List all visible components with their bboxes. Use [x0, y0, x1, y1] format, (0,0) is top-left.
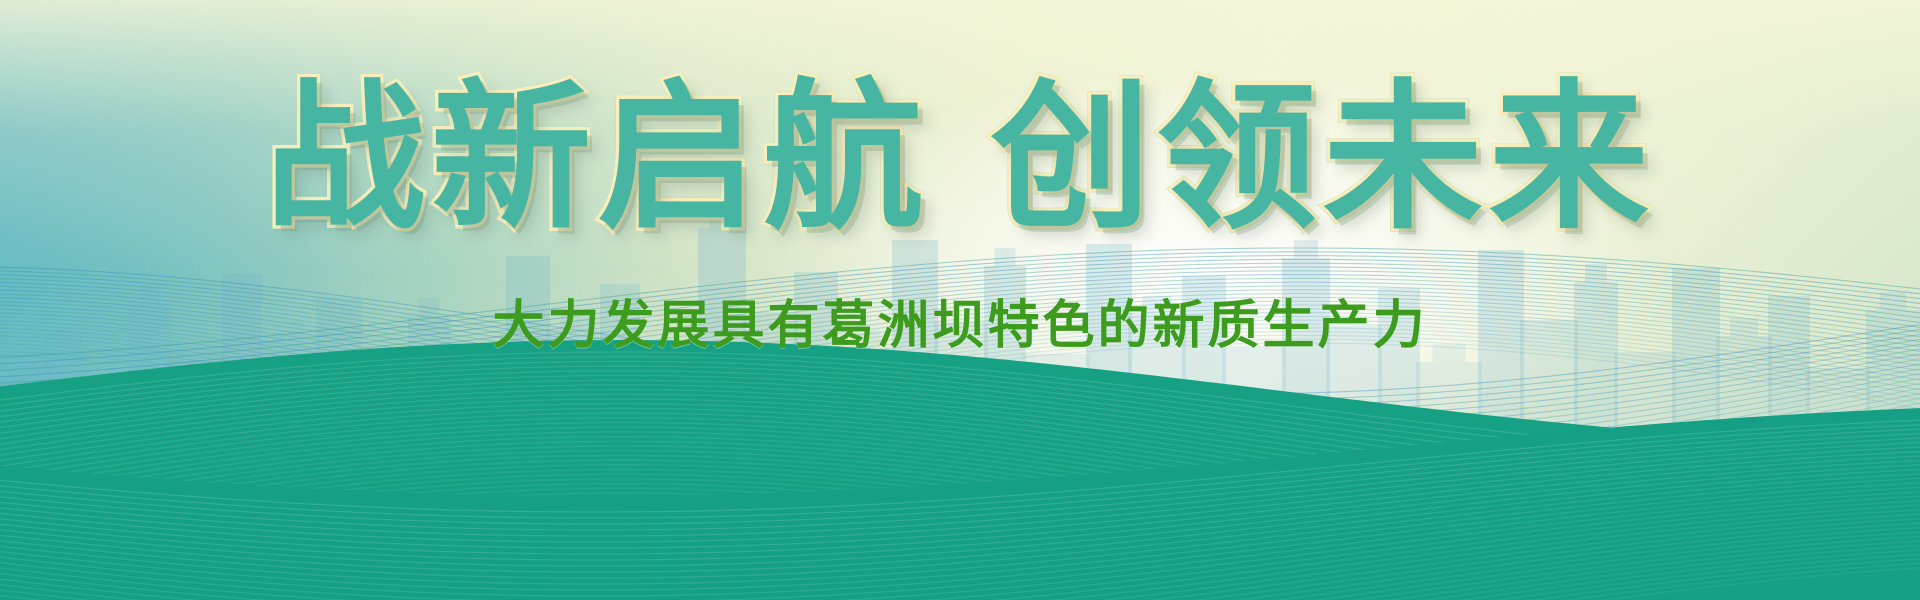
- promo-banner: 战新启航 创领未来 大力发展具有葛洲坝特色的新质生产力: [0, 0, 1920, 600]
- rolling-green-hills: [0, 300, 1920, 600]
